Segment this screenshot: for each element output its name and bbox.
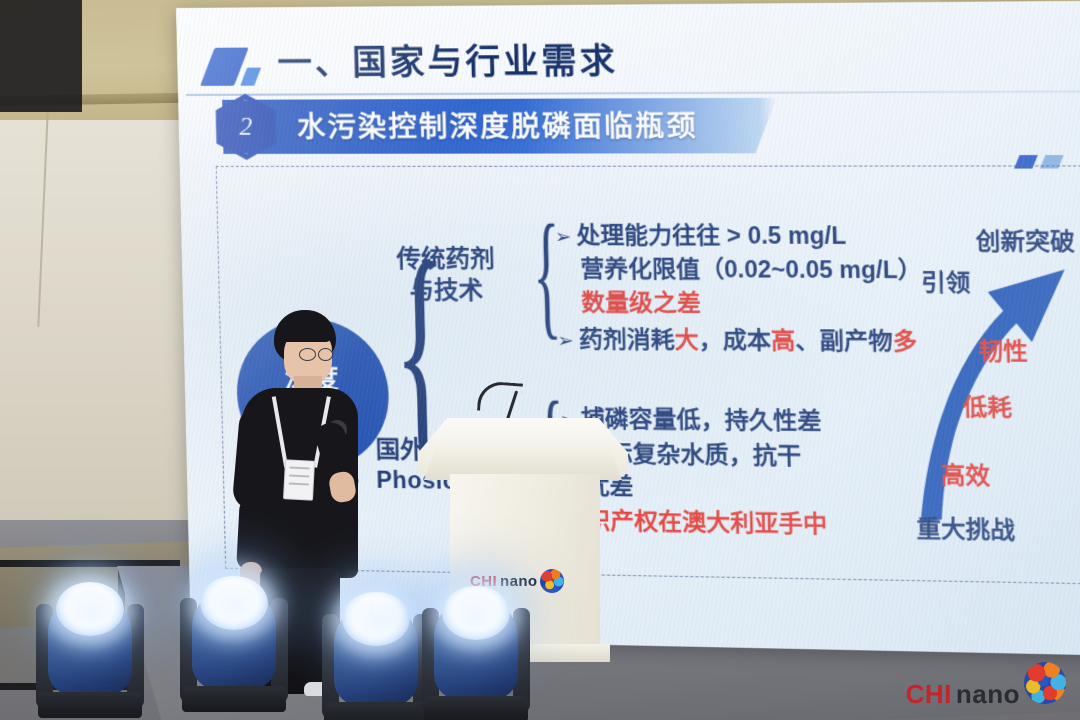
group-label-traditional-line1: 传统药剂 <box>379 245 513 277</box>
header-divider <box>186 90 1080 96</box>
keyword-innovation: 创新突破 <box>975 221 1075 257</box>
header-accent-marks-icon <box>207 47 278 87</box>
section-title-text: 水污染控制深度脱磷面临瓶颈 <box>297 104 699 146</box>
presenter-fringe <box>276 316 332 342</box>
keyword-high-efficiency: 高效 <box>940 455 990 491</box>
moving-head-light-3 <box>320 588 432 720</box>
bullet-top-4: ➢药剂消耗大，成本高、副产物多 <box>557 322 918 358</box>
presenter-glasses-right <box>318 348 333 361</box>
conference-stage-scene: 一、国家与行业需求 4 2 水污染控制深度脱磷面临瓶颈 深度脱磷 { { { 传… <box>0 0 1080 720</box>
watermark-molecule-icon <box>1024 662 1066 704</box>
light-lens-icon <box>200 576 268 630</box>
podium-molecule-icon <box>540 569 564 593</box>
watermark-nano: nano <box>956 679 1020 710</box>
keyword-major-challenge: 重大挑战 <box>916 509 1015 546</box>
keyword-low-consumption: 低耗 <box>962 387 1012 423</box>
bullet-arrow-icon: ➢ <box>555 227 572 248</box>
bullet-top-2: 营养化限值（0.02~0.05 mg/L） <box>580 252 923 287</box>
moving-head-light-4 <box>420 582 532 720</box>
light-lens-icon <box>56 582 124 636</box>
group-label-traditional-line2: 与技术 <box>380 276 514 308</box>
bullet-top-3: 数量级之差 <box>581 286 701 320</box>
section-number-text: 2 <box>218 100 273 154</box>
bullet-top-1: ➢处理能力往往 > 0.5 mg/L <box>554 219 846 253</box>
presenter-left-arm <box>236 497 266 570</box>
keyword-leadership: 引领 <box>921 263 971 298</box>
light-lens-icon <box>342 592 410 646</box>
presenter-glasses-left <box>299 348 316 361</box>
dark-wall-panel <box>0 0 82 112</box>
bullet-arrow-icon: ➢ <box>557 331 574 352</box>
slide-header-title: 一、国家与行业需求 <box>277 33 619 84</box>
keyword-resilience: 韧性 <box>978 331 1028 367</box>
chinano-watermark: CHInano <box>906 662 1066 710</box>
moving-head-light-2 <box>178 572 290 712</box>
moving-head-light-1 <box>34 578 146 718</box>
light-lens-icon <box>442 586 510 640</box>
presenter-name-badge <box>283 459 315 501</box>
group-label-traditional: 传统药剂 与技术 <box>379 245 513 308</box>
watermark-chi: CHI <box>906 679 952 710</box>
